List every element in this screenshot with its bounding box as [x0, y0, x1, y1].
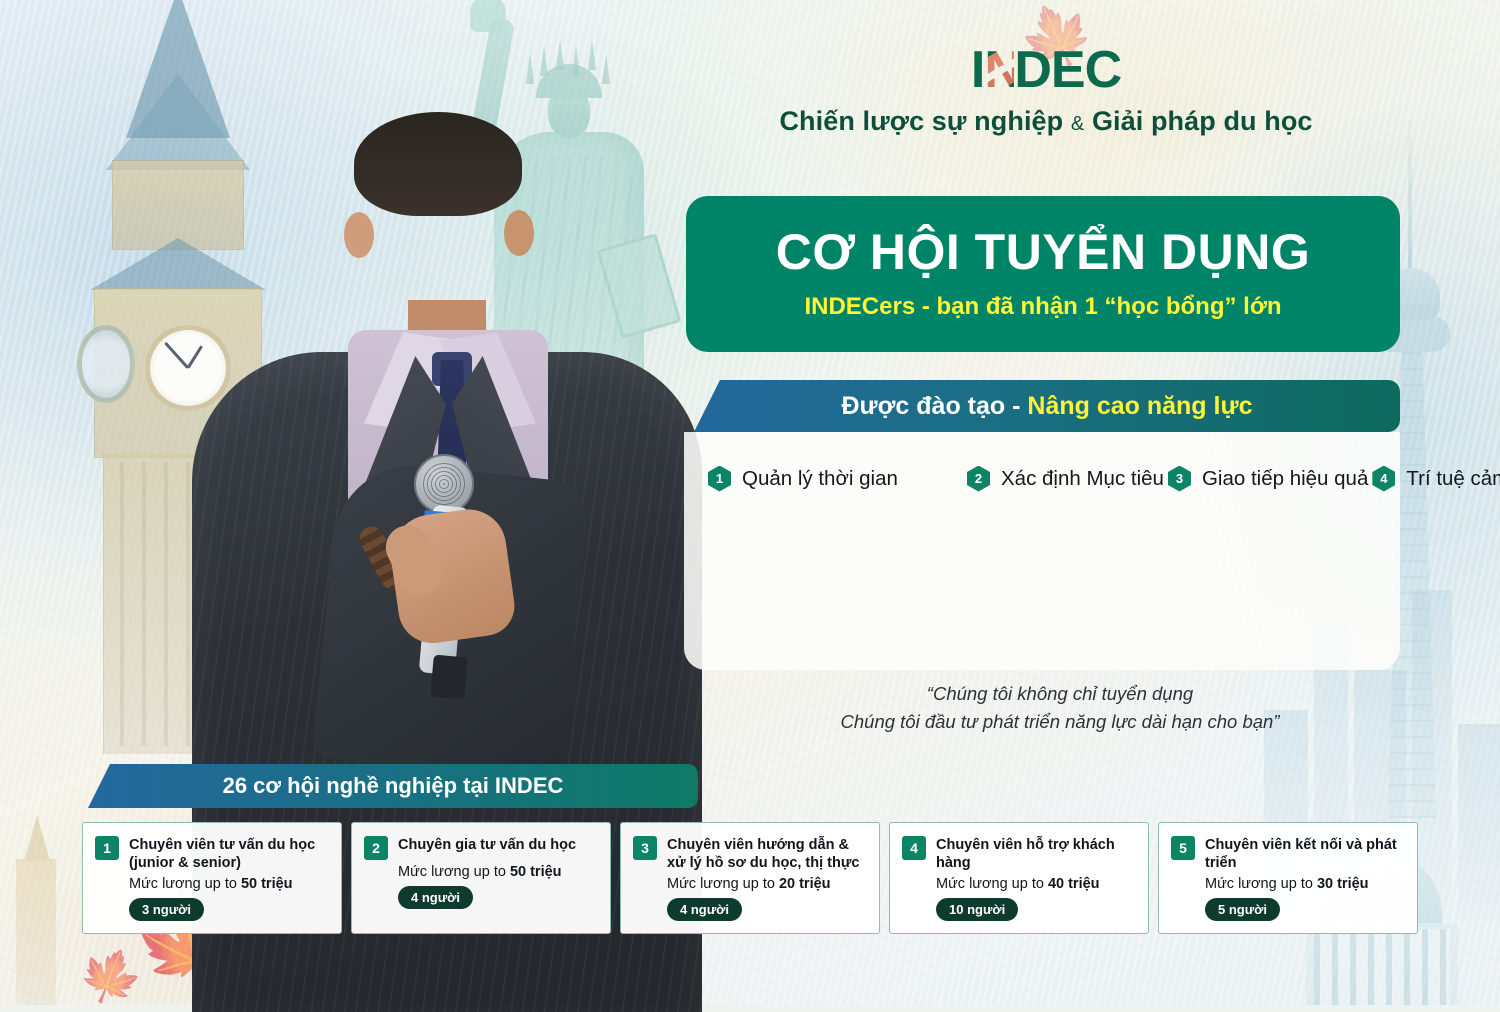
training-header-main: Được đào tạo - [842, 392, 1028, 420]
job-headcount-badge: 3 người [129, 898, 204, 921]
skill-number-badge: 1 [708, 466, 731, 492]
skill-label: Giao tiếp hiệu quả [1202, 467, 1368, 491]
job-number-badge: 2 [364, 836, 388, 860]
salary-prefix: Mức lương up to [129, 876, 241, 892]
job-card[interactable]: 4 Chuyên viên hỗ trợ khách hàng Mức lươn… [889, 822, 1149, 934]
job-title: Chuyên viên tư vấn du học (junior & seni… [129, 836, 329, 872]
hero-banner: CƠ HỘI TUYỂN DỤNG INDECers - bạn đã nhận… [686, 196, 1400, 352]
salary-amount: 30 triệu [1317, 876, 1369, 892]
training-header: Được đào tạo - Nâng cao năng lực [694, 380, 1400, 432]
jobs-header-text: 26 cơ hội nghề nghiệp tại INDEC [223, 773, 564, 799]
job-title: Chuyên viên hướng dẫn & xử lý hồ sơ du h… [667, 836, 867, 872]
salary-amount: 20 triệu [779, 876, 831, 892]
tagline-ampersand: & [1071, 113, 1084, 135]
logo-prefix: I [971, 41, 984, 99]
salary-prefix: Mức lương up to [936, 876, 1048, 892]
skill-label: Quản lý thời gian [742, 467, 898, 491]
job-card[interactable]: 3 Chuyên viên hướng dẫn & xử lý hồ sơ du… [620, 822, 880, 934]
salary-amount: 40 triệu [1048, 876, 1100, 892]
skill-number-badge: 2 [967, 466, 990, 492]
hero-title: CƠ HỘI TUYỂN DỤNG [776, 227, 1311, 277]
logo-n-glyph: N [984, 44, 1014, 96]
job-card[interactable]: 1 Chuyên viên tư vấn du học (junior & se… [82, 822, 342, 934]
skill-item: 2 Xác định Mục tiêu [967, 458, 1164, 499]
skill-item: 3 Giao tiếp hiệu quả [1168, 458, 1368, 499]
skills-panel: 1 Quản lý thời gian 2 Xác định Mục tiêu … [684, 432, 1400, 670]
salary-prefix: Mức lương up to [1205, 876, 1317, 892]
training-header-text: Được đào tạo - Nâng cao năng lực [842, 392, 1253, 421]
quote-line-1: “Chúng tôi không chỉ tuyển dụng [680, 680, 1440, 708]
job-salary: Mức lương up to 30 triệu [1205, 876, 1405, 892]
job-card[interactable]: 5 Chuyên viên kết nối và phát triển Mức … [1158, 822, 1418, 934]
job-headcount-badge: 10 người [936, 898, 1018, 921]
job-card-list: 1 Chuyên viên tư vấn du học (junior & se… [82, 822, 1418, 934]
job-number-badge: 1 [95, 836, 119, 860]
job-number-badge: 4 [902, 836, 926, 860]
indec-logo: INDEC [680, 44, 1412, 96]
job-card[interactable]: 2 Chuyên gia tư vấn du học Mức lương up … [351, 822, 611, 934]
job-title: Chuyên gia tư vấn du học [398, 836, 576, 860]
salary-prefix: Mức lương up to [667, 876, 779, 892]
job-salary: Mức lương up to 20 triệu [667, 876, 867, 892]
salary-prefix: Mức lương up to [398, 864, 510, 880]
job-headcount-badge: 4 người [398, 886, 473, 909]
quote-line-2: Chúng tôi đầu tư phát triển năng lực dài… [680, 708, 1440, 736]
quote-block: “Chúng tôi không chỉ tuyển dụng Chúng tô… [680, 680, 1440, 736]
skill-number-badge: 4 [1372, 466, 1395, 492]
tagline-left: Chiến lược sự nghiệp [779, 106, 1063, 136]
brand-tagline: Chiến lược sự nghiệp & Giải pháp du học [680, 106, 1412, 137]
skill-label: Xác định Mục tiêu [1001, 467, 1164, 491]
bell-tower-icon [4, 815, 68, 1005]
job-headcount-badge: 5 người [1205, 898, 1280, 921]
skill-label: Trí tuệ cảm xúc [1406, 467, 1500, 491]
tagline-right: Giải pháp du học [1092, 106, 1313, 136]
hero-subtitle: INDECers - bạn đã nhận 1 “học bổng” lớn [804, 293, 1281, 321]
salary-amount: 50 triệu [241, 876, 293, 892]
logo-suffix: DEC [1014, 41, 1121, 99]
job-headcount-badge: 4 người [667, 898, 742, 921]
job-salary: Mức lương up to 50 triệu [129, 876, 329, 892]
job-number-badge: 5 [1171, 836, 1195, 860]
job-title: Chuyên viên hỗ trợ khách hàng [936, 836, 1136, 872]
jobs-header: 26 cơ hội nghề nghiệp tại INDEC [88, 764, 698, 808]
brand-block: INDEC Chiến lược sự nghiệp & Giải pháp d… [680, 44, 1412, 137]
salary-amount: 50 triệu [510, 864, 562, 880]
skill-item: 4 Trí tuệ cảm xúc [1372, 458, 1500, 499]
training-header-highlight: Nâng cao năng lực [1027, 392, 1252, 420]
job-number-badge: 3 [633, 836, 657, 860]
skill-item: 1 Quản lý thời gian [708, 458, 963, 499]
skill-number-badge: 3 [1168, 466, 1191, 492]
job-salary: Mức lương up to 40 triệu [936, 876, 1136, 892]
job-salary: Mức lương up to 50 triệu [398, 864, 598, 880]
job-title: Chuyên viên kết nối và phát triển [1205, 836, 1405, 872]
